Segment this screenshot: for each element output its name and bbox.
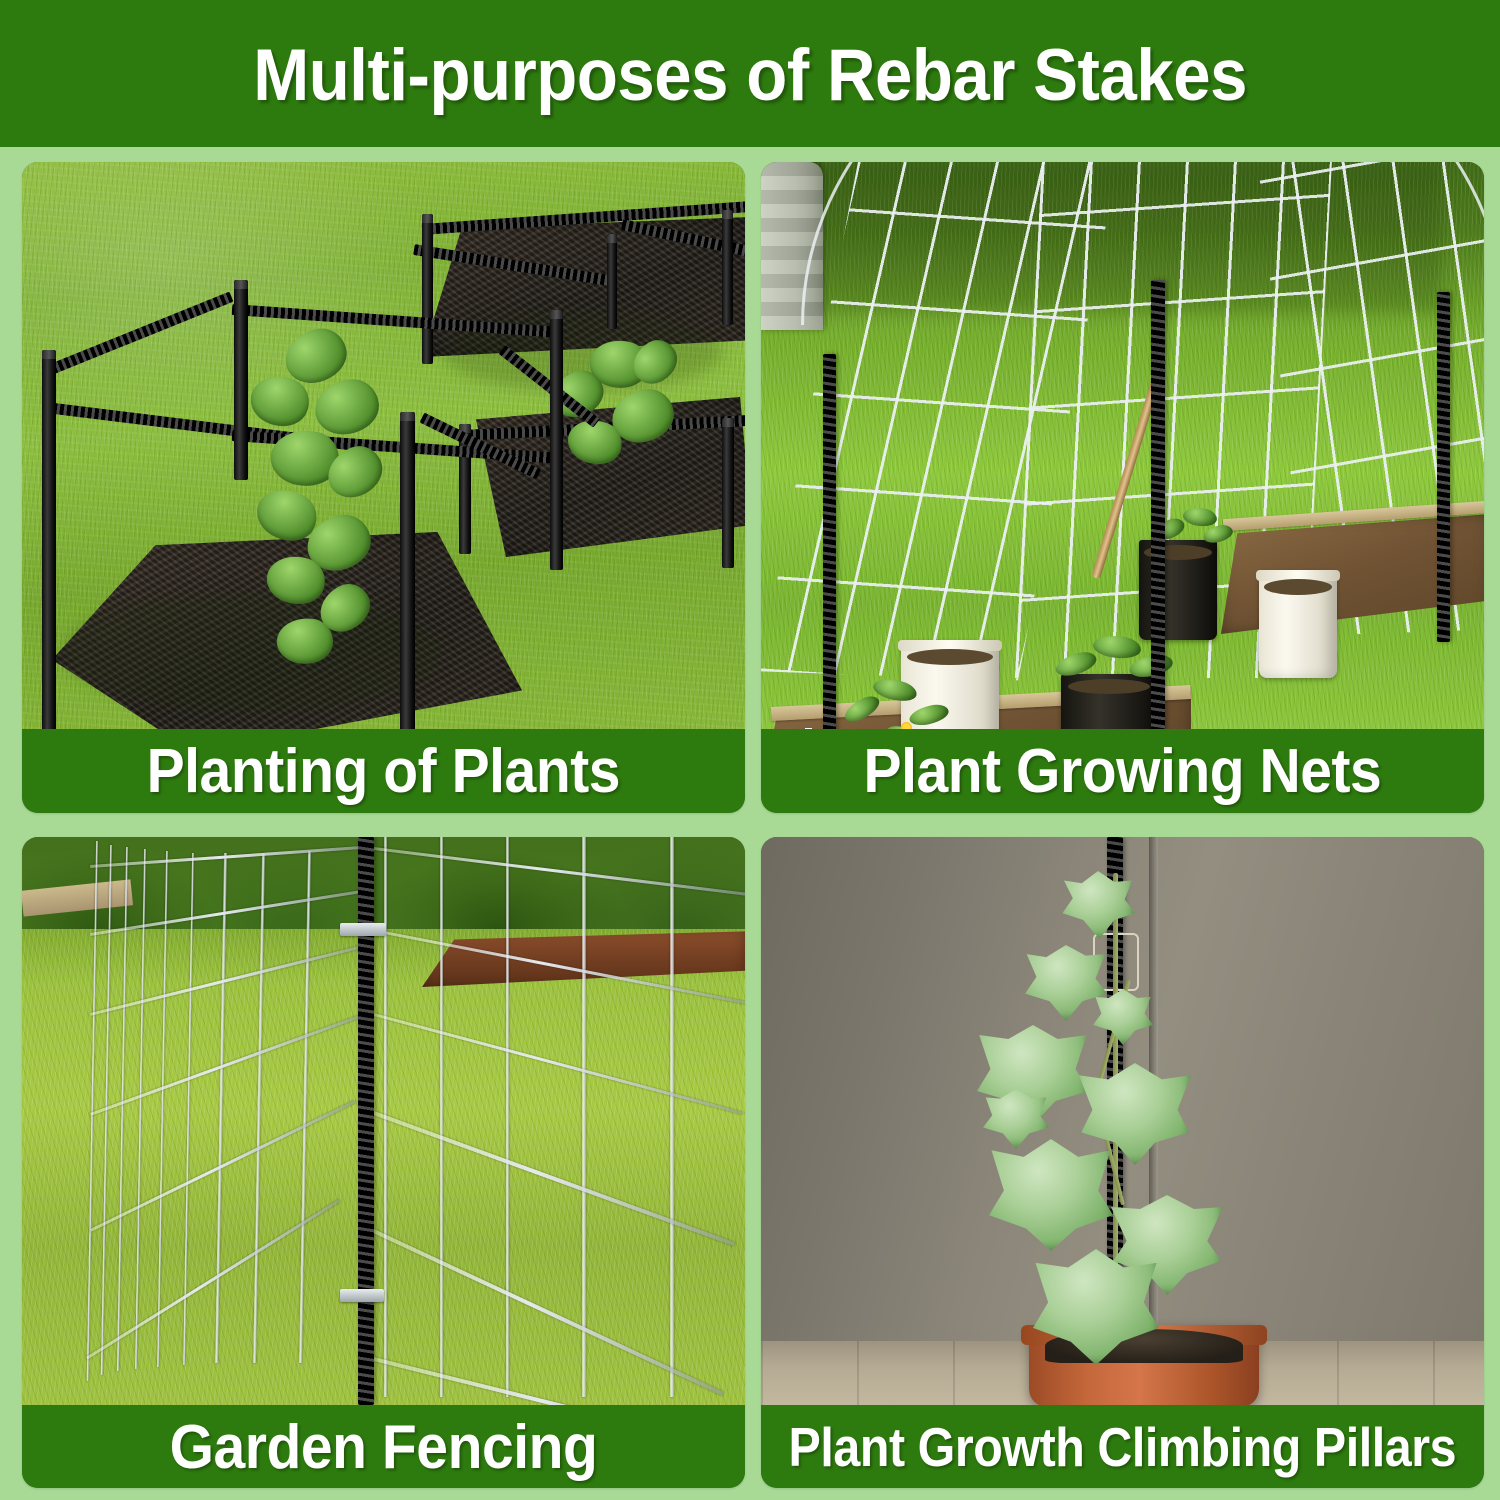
rebar-post-far-3 — [607, 234, 617, 329]
rebar-post-mid-2 — [722, 418, 734, 568]
wire-fence-right-run — [374, 837, 745, 1405]
rebar-post-left — [823, 354, 836, 729]
caption-label: Garden Fencing — [170, 1417, 598, 1479]
header-banner: Multi-purposes of Rebar Stakes — [0, 0, 1500, 147]
rebar-post-near-left — [42, 350, 56, 729]
plant-mid-bed — [542, 332, 692, 482]
rebar-post-right — [1437, 292, 1450, 642]
rebar-post-near-right-back — [550, 310, 563, 570]
photo-planting-of-plants — [22, 162, 745, 729]
rebar-post-far-1 — [422, 214, 433, 364]
caption-bar-planting-of-plants: Planting of Plants — [22, 729, 745, 813]
panel-plant-growing-nets[interactable]: Plant Growing Nets — [761, 162, 1484, 813]
caption-label: Planting of Plants — [147, 741, 620, 803]
panel-plant-growth-climbing-pillars[interactable]: Plant Growth Climbing Pillars — [761, 837, 1484, 1488]
wire-fence-left-run — [82, 837, 372, 1405]
page-title: Multi-purposes of Rebar Stakes — [253, 39, 1247, 112]
plant-near-bed — [237, 330, 417, 680]
pot-white-right — [1259, 570, 1337, 678]
caption-bar-garden-fencing: Garden Fencing — [22, 1405, 745, 1488]
marigold-1 — [901, 722, 912, 729]
panel-garden-fencing[interactable]: Garden Fencing — [22, 837, 745, 1488]
panel-planting-of-plants[interactable]: Planting of Plants — [22, 162, 745, 813]
infographic-root: Multi-purposes of Rebar Stakes — [0, 0, 1500, 1500]
caption-label: Plant Growing Nets — [864, 741, 1382, 803]
wire-mesh-arch-top-curve — [801, 162, 1484, 325]
photo-plant-growth-climbing-pillars — [761, 837, 1484, 1405]
caption-label: Plant Growth Climbing Pillars — [789, 1420, 1457, 1475]
photo-plant-growing-nets — [761, 162, 1484, 729]
fence-clip-lower — [340, 1289, 384, 1302]
caption-bar-plant-growing-nets: Plant Growing Nets — [761, 729, 1484, 813]
rebar-post-far-2 — [722, 210, 733, 325]
fence-clip-upper — [340, 923, 386, 936]
photo-garden-fencing — [22, 837, 745, 1405]
panel-grid: Planting of Plants — [22, 162, 1478, 1488]
rebar-post-center — [1151, 280, 1165, 729]
plant-in-bed-front — [839, 666, 979, 729]
caption-bar-plant-growth-climbing-pillars: Plant Growth Climbing Pillars — [761, 1405, 1484, 1488]
